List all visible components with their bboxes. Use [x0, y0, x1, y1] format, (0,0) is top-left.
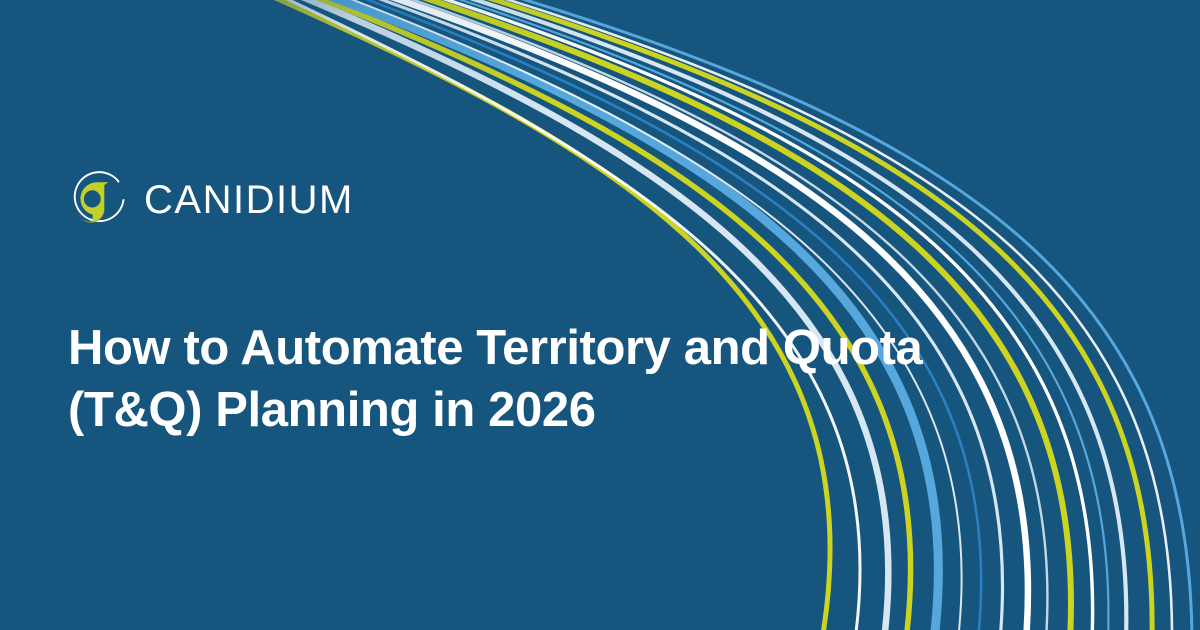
swoosh-stroke [344, 0, 981, 630]
swoosh-stroke [388, 0, 1047, 630]
swoosh-stroke [480, 0, 1172, 630]
social-card: CANIDIUM How to Automate Territory and Q… [0, 0, 1200, 630]
canidium-droplet-icon [68, 169, 130, 231]
swoosh-stroke [262, 0, 830, 630]
flowing-ribbon-swoosh [0, 0, 1200, 630]
swoosh-stroke [404, 0, 1071, 630]
swoosh-stroke [330, 0, 962, 630]
swoosh-stroke [300, 0, 911, 630]
brand-wordmark: CANIDIUM [144, 180, 354, 220]
brand-logo[interactable]: CANIDIUM [68, 160, 354, 240]
swoosh-stroke [420, 0, 1093, 630]
logo-droplet-counter [84, 190, 101, 207]
swoosh-stroke [496, 0, 1192, 630]
swoosh-stroke [374, 0, 1028, 630]
swoosh-stroke [448, 0, 1126, 630]
swoosh-stroke [316, 0, 938, 630]
swoosh-stroke [434, 0, 1108, 630]
swoosh-stroke [268, 0, 860, 630]
swoosh-stroke [288, 0, 888, 630]
swoosh-stroke [358, 0, 1003, 630]
swoosh-stroke [466, 0, 1152, 630]
swoosh-stroke-group [262, 0, 1192, 630]
headline-title: How to Automate Territory and Quota (T&Q… [68, 318, 1028, 441]
